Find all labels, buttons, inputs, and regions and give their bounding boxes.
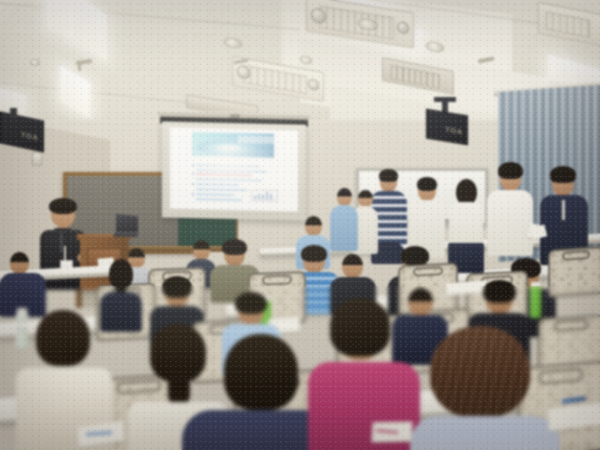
head bbox=[358, 190, 373, 207]
ceiling-sprinkler bbox=[78, 63, 81, 71]
laptop-keyboard[interactable] bbox=[113, 232, 138, 237]
torso-white-blouse bbox=[449, 202, 483, 246]
slide-chart-thumbnail bbox=[251, 189, 277, 202]
standing-attendee-lightblue bbox=[330, 188, 358, 256]
torso-white-shirt bbox=[487, 190, 533, 256]
hair bbox=[401, 246, 429, 265]
bottle-cap bbox=[17, 308, 27, 313]
slide-text-line bbox=[196, 178, 263, 182]
wavy-hair bbox=[430, 326, 530, 418]
slide-text-line bbox=[196, 164, 260, 167]
presenter-hair bbox=[49, 198, 77, 214]
wall-sensor bbox=[32, 152, 42, 166]
head bbox=[193, 240, 210, 260]
toa-speaker-mount-left bbox=[10, 108, 17, 118]
ceiling-light-panel bbox=[60, 65, 90, 118]
vent-slots bbox=[546, 11, 589, 38]
hair bbox=[36, 310, 90, 366]
hair bbox=[379, 169, 398, 182]
slide-bullet bbox=[192, 193, 194, 195]
hair bbox=[222, 239, 247, 255]
toa-speaker-right: TOA bbox=[426, 109, 468, 146]
projection-screen bbox=[162, 121, 306, 220]
presenter-shirt-placket bbox=[60, 232, 63, 252]
slide-text-line bbox=[196, 169, 268, 173]
head bbox=[305, 216, 322, 236]
slide-text-line bbox=[196, 183, 240, 186]
torso-light-blue bbox=[330, 205, 358, 251]
vent-knob bbox=[397, 21, 409, 35]
seated-attendee-navy-suit-far-left bbox=[0, 252, 46, 314]
lanyard bbox=[562, 200, 565, 220]
ceiling-dome-speaker bbox=[30, 59, 40, 66]
slide-text-line bbox=[196, 193, 234, 196]
presenter-lanyard bbox=[64, 246, 66, 261]
hair bbox=[498, 162, 523, 179]
toa-speaker-bracket-right bbox=[434, 97, 456, 102]
hair bbox=[235, 292, 267, 314]
head bbox=[337, 188, 352, 206]
vent-knob bbox=[237, 65, 250, 80]
ceiling-air-vent bbox=[538, 2, 600, 46]
standing-attendee-white-blouse-navy-skirt bbox=[448, 182, 484, 272]
standing-attendee-white-shirt-tall bbox=[486, 166, 534, 264]
hair bbox=[330, 298, 390, 356]
toa-speaker-label-left: TOA bbox=[21, 132, 39, 143]
toa-speaker-label-right: TOA bbox=[445, 126, 463, 136]
projected-slide bbox=[170, 128, 298, 212]
seated-attendee-wavy-hair-woman bbox=[400, 332, 560, 450]
seminar-room-photograph: TOA TOA bbox=[0, 0, 600, 450]
hair bbox=[162, 276, 192, 298]
head bbox=[342, 254, 363, 278]
hair bbox=[224, 334, 298, 410]
slide-bullet bbox=[192, 164, 194, 166]
banquet-chair[interactable] bbox=[548, 246, 600, 294]
hair bbox=[483, 280, 516, 303]
ceiling-light-panel bbox=[74, 0, 106, 61]
hair bbox=[301, 245, 327, 262]
hair bbox=[550, 166, 576, 183]
bottle-cap bbox=[531, 282, 540, 287]
slide-text-line-highlight bbox=[196, 173, 252, 176]
vent-knob bbox=[308, 78, 319, 91]
hair bbox=[417, 177, 437, 191]
ceiling-dome-speaker bbox=[224, 37, 242, 50]
slide-text-line bbox=[196, 188, 247, 191]
slide-bullet bbox=[192, 173, 194, 175]
vent-slots bbox=[244, 65, 307, 94]
slide-title-block bbox=[238, 136, 274, 144]
vent-slots bbox=[320, 6, 394, 39]
slide-text-line bbox=[196, 198, 242, 201]
torso-light-blue-striped-top bbox=[410, 416, 560, 450]
head bbox=[10, 252, 29, 274]
slide-bullet bbox=[192, 183, 194, 185]
green-tea-bottle[interactable] bbox=[530, 286, 541, 318]
